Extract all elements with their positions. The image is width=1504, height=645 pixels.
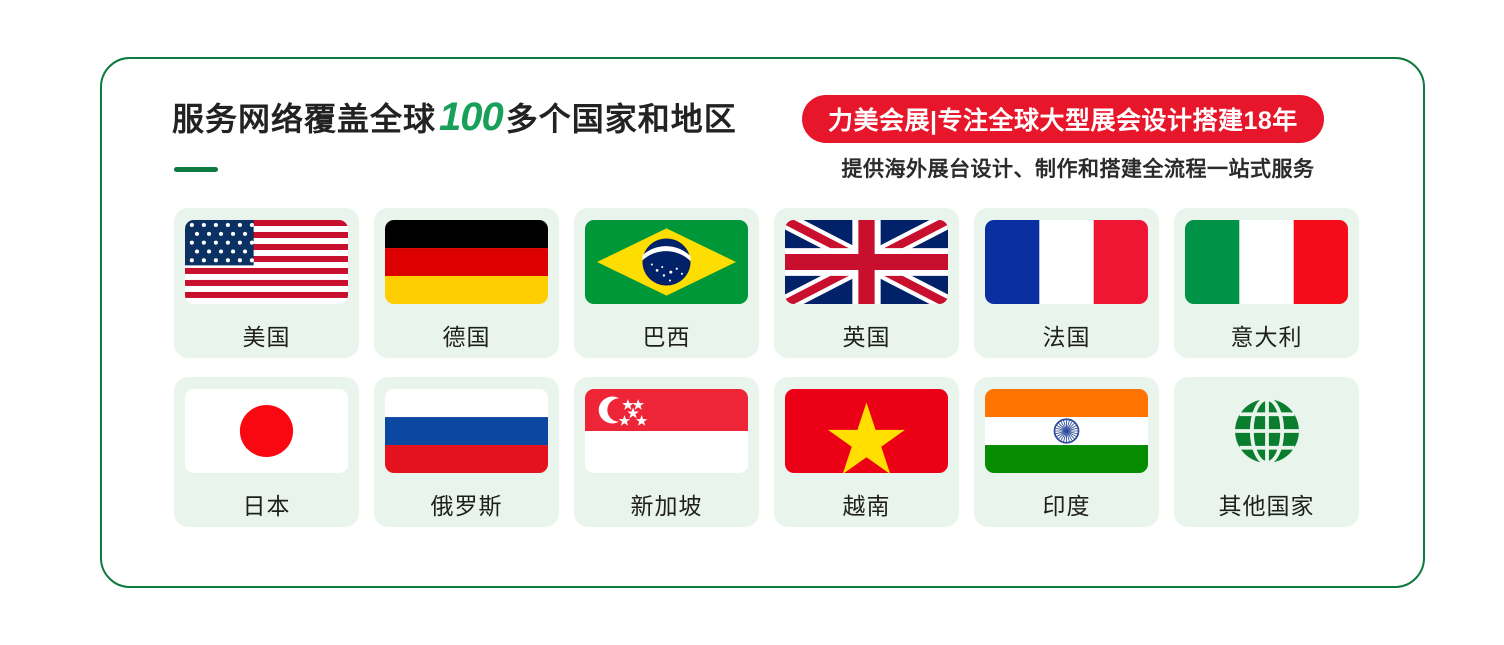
country-card[interactable]: 德国 — [374, 208, 559, 358]
country-card[interactable]: 印度 — [974, 377, 1159, 527]
country-card[interactable]: 其他国家 — [1174, 377, 1359, 527]
page-title-prefix: 服务网络覆盖全球 — [172, 101, 436, 137]
flag-india-icon — [985, 389, 1148, 473]
flag-japan-icon — [185, 389, 348, 473]
page-title: 服务网络覆盖全球100多个国家和地区 — [172, 94, 737, 140]
flag-germany-icon — [385, 220, 548, 304]
country-label: 其他国家 — [1219, 487, 1315, 521]
country-label: 日本 — [243, 487, 291, 521]
flag-uk-icon — [785, 220, 948, 304]
page-title-suffix: 多个国家和地区 — [506, 101, 737, 137]
country-card[interactable]: 日本 — [174, 377, 359, 527]
country-card[interactable]: 俄罗斯 — [374, 377, 559, 527]
country-label: 巴西 — [643, 318, 691, 352]
country-label: 美国 — [243, 318, 291, 352]
flag-russia-icon — [385, 389, 548, 473]
country-card[interactable]: 英国 — [774, 208, 959, 358]
country-card[interactable]: 巴西 — [574, 208, 759, 358]
country-label: 英国 — [843, 318, 891, 352]
status-badge: 力美会展|专注全球大型展会设计搭建18年 — [802, 95, 1324, 143]
subtitle-text: 提供海外展台设计、制作和搭建全流程一站式服务 — [802, 153, 1354, 183]
country-card[interactable]: 意大利 — [1174, 208, 1359, 358]
flag-singapore-icon — [585, 389, 748, 473]
globe-icon — [1185, 389, 1348, 473]
flag-france-icon — [985, 220, 1148, 304]
country-label: 新加坡 — [631, 487, 703, 521]
country-label: 法国 — [1043, 318, 1091, 352]
country-label: 俄罗斯 — [431, 487, 503, 521]
country-coverage-panel: 服务网络覆盖全球100多个国家和地区 力美会展|专注全球大型展会设计搭建18年 … — [100, 57, 1425, 588]
page-title-number: 100 — [436, 95, 506, 139]
country-grid: 美国 德国 巴西 英国 法国 意大利 日本 俄罗斯 — [174, 208, 1359, 527]
title-underline-rule — [174, 167, 218, 172]
country-card[interactable]: 越南 — [774, 377, 959, 527]
country-card[interactable]: 新加坡 — [574, 377, 759, 527]
flag-usa-icon — [185, 220, 348, 304]
country-card[interactable]: 美国 — [174, 208, 359, 358]
country-label: 越南 — [843, 487, 891, 521]
country-label: 印度 — [1043, 487, 1091, 521]
flag-italy-icon — [1185, 220, 1348, 304]
country-label: 德国 — [443, 318, 491, 352]
panel-header: 服务网络覆盖全球100多个国家和地区 力美会展|专注全球大型展会设计搭建18年 … — [102, 59, 1423, 189]
flag-vietnam-icon — [785, 389, 948, 473]
country-card[interactable]: 法国 — [974, 208, 1159, 358]
country-label: 意大利 — [1231, 318, 1303, 352]
flag-brazil-icon — [585, 220, 748, 304]
